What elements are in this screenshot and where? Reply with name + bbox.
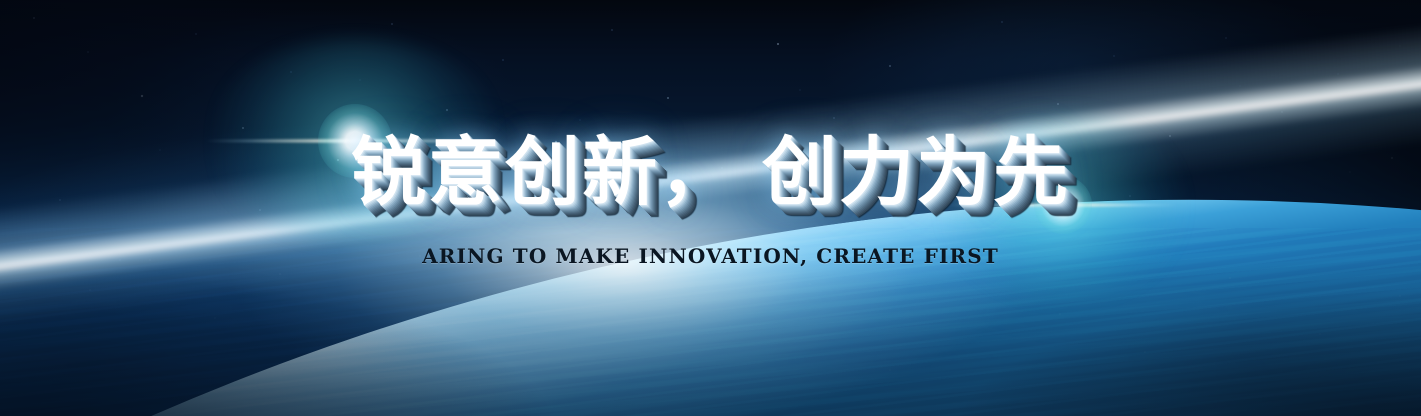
banner-subtitle: ARING TO MAKE INNOVATION, CREATE FIRST — [0, 243, 1421, 269]
banner-headline: 锐意创新，创力为先 — [0, 128, 1421, 216]
headline-phrase-two: 创力为先 — [762, 128, 1070, 216]
headline-phrase-one: 锐意创新， — [351, 128, 736, 216]
hero-banner: 锐意创新，创力为先 ARING TO MAKE INNOVATION, CREA… — [0, 0, 1421, 416]
